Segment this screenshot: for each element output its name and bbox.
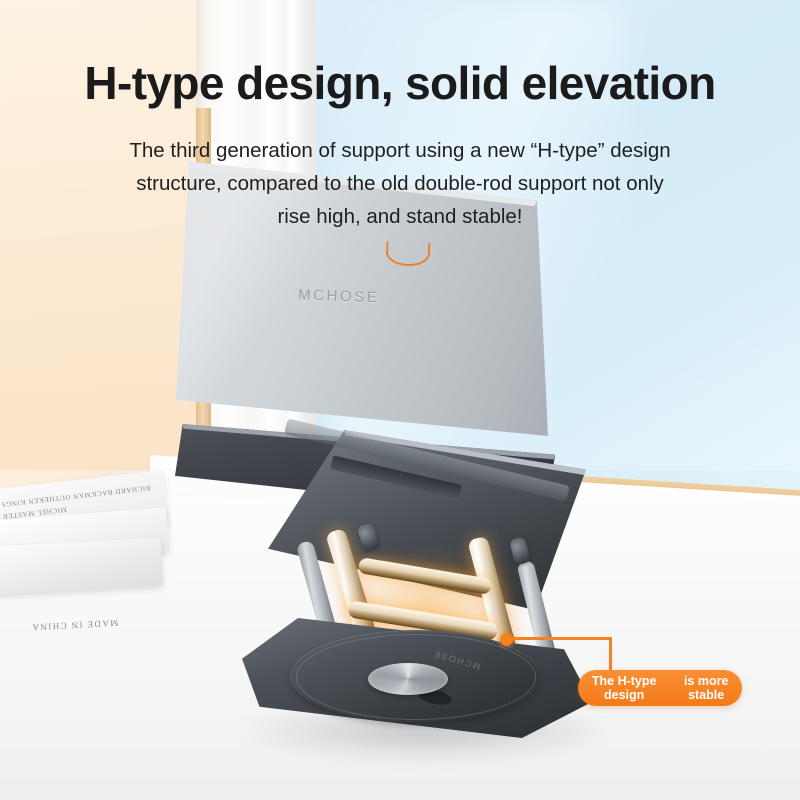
book-title-text: RICHARD BACKMAN OUTHEKEN KINGS [1,484,151,509]
screenshot-canvas: RICHARD BACKMAN OUTHEKEN KINGS MICHEL MA… [0,0,800,800]
callout-badge: The H-type design is more stable [578,670,742,706]
callout-badge-line-2: is more stable [670,674,742,702]
page-subtitle: The third generation of support using a … [36,134,764,233]
swivel-center-knob [368,663,448,695]
callout-leader-horizontal [508,637,612,640]
subtitle-line-3: rise high, and stand stable! [36,200,764,233]
book-bottom: MADE IN CHINA [0,538,163,595]
page-headline: H-type design, solid elevation [0,56,800,110]
laptop-brand-logo: MCHOSE [298,287,380,307]
subtitle-line-2: structure, compared to the old double-ro… [36,167,764,200]
callout-badge-line-1: The H-type design [578,674,670,702]
subtitle-line-1: The third generation of support using a … [36,134,764,167]
book-stack: RICHARD BACKMAN OUTHEKEN KINGS MICHEL MA… [0,480,188,630]
